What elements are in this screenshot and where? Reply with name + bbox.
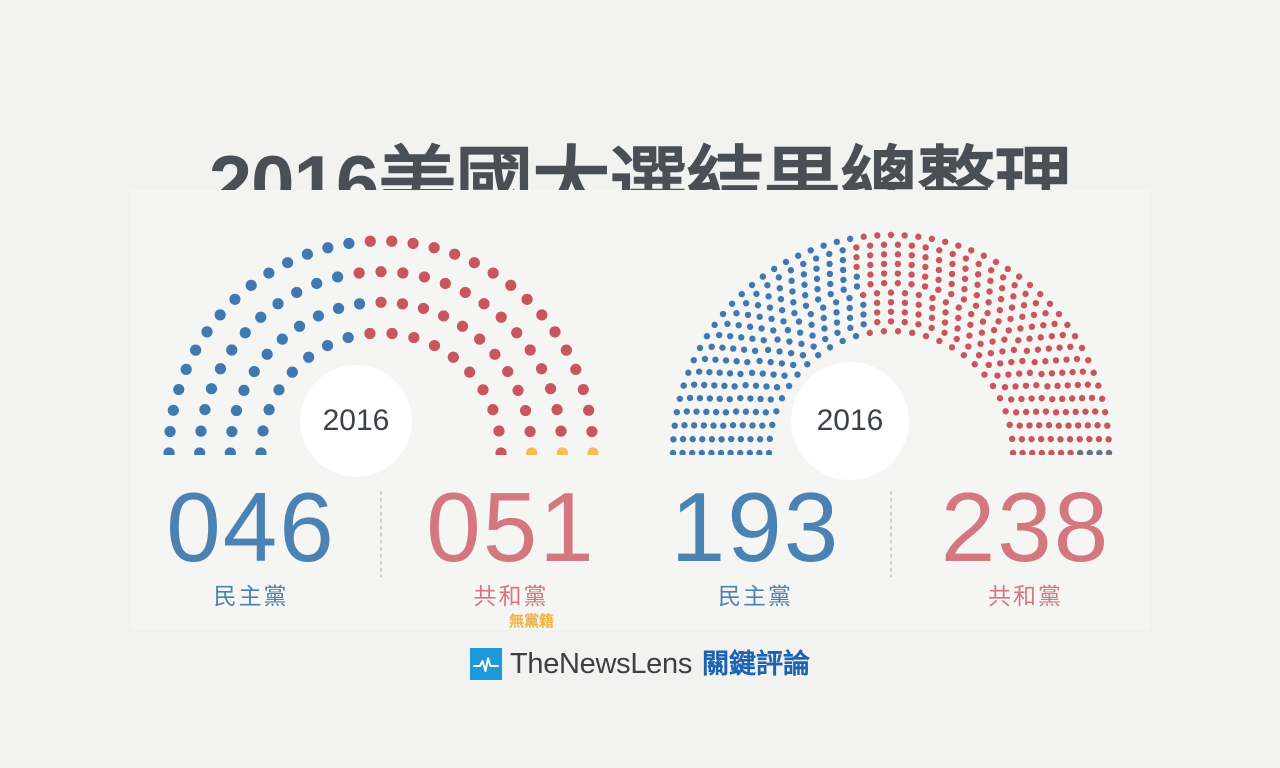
seat-dot — [935, 267, 941, 273]
seat-dot — [1008, 436, 1014, 442]
seat-dot — [199, 404, 210, 415]
seat-dot — [901, 232, 907, 238]
seat-dot — [536, 363, 547, 374]
seat-dot — [1012, 383, 1018, 389]
seat-dot — [1006, 422, 1012, 428]
seat-dot — [921, 273, 927, 279]
senate-democrat-result: 046 民主黨 — [136, 475, 366, 611]
seat-dot — [800, 261, 806, 267]
seat-dot — [992, 259, 998, 265]
seat-dot — [749, 336, 755, 342]
seat-dot — [795, 318, 801, 324]
house-democrat-result: 193 民主黨 — [636, 475, 875, 611]
seat-dot — [827, 291, 833, 297]
seat-dot — [1016, 370, 1022, 376]
seat-dot — [716, 396, 722, 402]
seat-dot — [1022, 383, 1028, 389]
seat-dot — [313, 310, 324, 321]
seat-dot — [821, 325, 827, 331]
seat-dot — [732, 408, 738, 414]
seat-dot — [488, 267, 499, 278]
seat-dot — [880, 270, 886, 276]
seat-dot — [1037, 291, 1043, 297]
seat-dot — [1015, 337, 1021, 343]
seat-dot — [1012, 409, 1018, 415]
seat-dot — [173, 384, 184, 395]
seat-dot — [449, 249, 460, 260]
seat-dot — [800, 271, 806, 277]
house-democrat-party-name: 民主黨 — [636, 581, 875, 611]
seat-dot — [1010, 293, 1016, 299]
seat-dot — [965, 343, 971, 349]
seat-dot — [1026, 336, 1032, 342]
seat-dot — [987, 267, 993, 273]
seat-dot — [1056, 344, 1062, 350]
seat-dot — [731, 383, 737, 389]
seat-dot — [935, 277, 941, 283]
seat-dot — [408, 332, 419, 343]
seat-dot — [708, 436, 714, 442]
seat-dot — [730, 345, 736, 351]
seat-dot — [769, 422, 775, 428]
seat-dot — [190, 345, 201, 356]
seat-dot — [979, 318, 985, 324]
seat-dot — [1059, 369, 1065, 375]
seat-dot — [1011, 282, 1017, 288]
seat-dot — [206, 383, 217, 394]
seat-dot — [1005, 327, 1011, 333]
seat-dot — [767, 359, 773, 365]
seat-dot — [322, 340, 333, 351]
seat-dot — [578, 384, 589, 395]
seat-dot — [798, 341, 804, 347]
house-republican-party-name: 共和黨 — [906, 581, 1145, 611]
seat-dot — [777, 296, 783, 302]
seat-dot — [343, 332, 354, 343]
seat-dot — [1032, 409, 1038, 415]
seat-dot — [343, 238, 354, 249]
seat-dot — [570, 364, 581, 375]
seat-dot — [1071, 333, 1077, 339]
seat-dot — [778, 307, 784, 313]
seat-dot — [737, 395, 743, 401]
seat-dot — [1026, 282, 1032, 288]
seat-dot — [1095, 436, 1101, 442]
seat-dot — [782, 259, 788, 265]
seat-dot — [834, 330, 840, 336]
seat-dot — [901, 319, 907, 325]
seat-dot — [742, 409, 748, 415]
seat-dot — [690, 422, 696, 428]
seat-dot — [754, 302, 760, 308]
seat-dot — [744, 359, 750, 365]
seat-dot — [693, 408, 699, 414]
seat-dot — [505, 280, 516, 291]
seat-dot — [545, 383, 556, 394]
seat-dot — [998, 285, 1004, 291]
seat-dot — [429, 340, 440, 351]
seat-dot — [827, 281, 833, 287]
seat-dot — [1069, 369, 1075, 375]
seat-dot — [1074, 382, 1080, 388]
seat-dot — [749, 422, 755, 428]
seat-dot — [873, 309, 879, 315]
seat-dot — [966, 332, 972, 338]
seat-dot — [894, 270, 900, 276]
seat-dot — [887, 289, 893, 295]
seat-dot — [799, 352, 805, 358]
seat-dot — [840, 287, 846, 293]
house-republican-result: 238 共和黨 — [906, 475, 1145, 611]
seat-dot — [873, 300, 879, 306]
seat-dot — [997, 296, 1003, 302]
seat-dot — [419, 271, 430, 282]
seat-dot — [708, 450, 714, 455]
seat-dot — [673, 409, 679, 415]
seat-dot — [586, 426, 597, 437]
seat-dot — [989, 338, 995, 344]
seat-dot — [408, 238, 419, 249]
seat-dot — [549, 326, 560, 337]
seat-dot — [1095, 382, 1101, 388]
seat-dot — [1037, 334, 1043, 340]
seat-dot — [766, 304, 772, 310]
seat-dot — [710, 422, 716, 428]
seat-dot — [215, 363, 226, 374]
seat-dot — [536, 309, 547, 320]
seat-dot — [1020, 302, 1026, 308]
infographic-canvas: 2016美國大選結果總整理 2016 無黨籍 046 民主黨 051 共和黨 — [0, 0, 1280, 768]
seat-dot — [721, 383, 727, 389]
seat-dot — [1052, 357, 1058, 363]
seat-dot — [833, 319, 839, 325]
seat-dot — [975, 261, 981, 267]
seat-dot — [765, 293, 771, 299]
seat-dot — [980, 253, 986, 259]
seat-dot — [1066, 436, 1072, 442]
seat-dot — [853, 264, 859, 270]
seat-dot — [949, 251, 955, 257]
seat-dot — [1098, 396, 1104, 402]
seat-dot — [770, 371, 776, 377]
seat-dot — [448, 352, 459, 363]
seat-dot — [846, 305, 852, 311]
seat-dot — [999, 348, 1005, 354]
seat-dot — [822, 336, 828, 342]
chart-card: 2016 無黨籍 046 民主黨 051 共和黨 2016 — [131, 190, 1150, 630]
seat-dot — [1036, 422, 1042, 428]
seat-dot — [765, 450, 771, 455]
seat-dot — [744, 312, 750, 318]
seat-dot — [867, 262, 873, 268]
seat-dot — [1030, 312, 1036, 318]
seat-dot — [711, 382, 717, 388]
seat-dot — [489, 349, 500, 360]
seat-dot — [942, 239, 948, 245]
seat-dot — [880, 280, 886, 286]
senate-chart-panel: 2016 無黨籍 046 民主黨 051 共和黨 — [131, 190, 631, 630]
seat-dot — [1038, 395, 1044, 401]
seat-dot — [1042, 310, 1048, 316]
seat-dot — [901, 290, 907, 296]
seat-dot — [814, 352, 820, 358]
seat-dot — [1045, 345, 1051, 351]
seat-dot — [720, 423, 726, 429]
seat-dot — [1078, 345, 1084, 351]
seat-dot — [915, 302, 921, 308]
seat-dot — [1029, 450, 1035, 455]
seat-dot — [1063, 356, 1069, 362]
seat-dot — [587, 447, 598, 455]
seat-dot — [908, 271, 914, 277]
seat-dot — [733, 310, 739, 316]
seat-dot — [804, 361, 810, 367]
seat-dot — [790, 299, 796, 305]
seat-dot — [866, 242, 872, 248]
seat-dot — [1001, 336, 1007, 342]
seat-dot — [955, 304, 961, 310]
seat-dot — [807, 311, 813, 317]
seat-dot — [996, 307, 1002, 313]
seat-dot — [1090, 370, 1096, 376]
seat-dot — [833, 239, 839, 245]
seat-dot — [262, 349, 273, 360]
seat-dot — [894, 251, 900, 257]
senate-republican-result: 051 共和黨 — [396, 475, 626, 611]
seat-dot — [739, 422, 745, 428]
seat-dot — [333, 303, 344, 314]
seat-dot — [708, 344, 714, 350]
seat-dot — [1076, 436, 1082, 442]
seat-dot — [995, 318, 1001, 324]
seat-dot — [163, 447, 174, 455]
seat-dot — [291, 287, 302, 298]
seat-dot — [1057, 450, 1063, 455]
seat-dot — [978, 329, 984, 335]
seat-dot — [760, 337, 766, 343]
seat-dot — [820, 315, 826, 321]
seat-dot — [762, 409, 768, 415]
seat-dot — [996, 395, 1002, 401]
seat-dot — [1038, 450, 1044, 455]
seat-dot — [690, 357, 696, 363]
seat-dot — [375, 297, 386, 308]
seat-dot — [685, 370, 691, 376]
seat-dot — [164, 426, 175, 437]
seat-dot — [712, 409, 718, 415]
seat-dot — [787, 267, 793, 273]
seat-dot — [756, 436, 762, 442]
seat-dot — [1067, 344, 1073, 350]
seat-dot — [737, 450, 743, 455]
seat-dot — [774, 336, 780, 342]
seat-dot — [1037, 436, 1043, 442]
seat-dot — [477, 384, 488, 395]
seat-dot — [941, 330, 947, 336]
seat-dot — [860, 321, 866, 327]
seat-dot — [941, 319, 947, 325]
seat-dot — [752, 383, 758, 389]
seat-dot — [464, 367, 475, 378]
seat-dot — [719, 311, 725, 317]
seat-dot — [880, 261, 886, 267]
seat-dot — [1016, 422, 1022, 428]
seat-dot — [756, 358, 762, 364]
seat-dot — [846, 295, 852, 301]
seat-dot — [1092, 408, 1098, 414]
seat-dot — [302, 249, 313, 260]
seat-dot — [826, 261, 832, 267]
seat-dot — [249, 366, 260, 377]
pulse-icon — [470, 648, 502, 680]
seat-dot — [478, 298, 489, 309]
seat-dot — [689, 436, 695, 442]
seat-dot — [229, 294, 240, 305]
seat-dot — [987, 278, 993, 284]
seat-dot — [1046, 301, 1052, 307]
seat-dot — [894, 242, 900, 248]
seat-dot — [1085, 357, 1091, 363]
seat-dot — [1079, 368, 1085, 374]
seat-dot — [948, 344, 954, 350]
seat-dot — [386, 328, 397, 339]
seat-dot — [748, 282, 754, 288]
seat-dot — [814, 286, 820, 292]
seat-dot — [1052, 409, 1058, 415]
seat-dot — [272, 298, 283, 309]
seat-dot — [689, 450, 695, 455]
seat-dot — [928, 315, 934, 321]
seat-dot — [1073, 356, 1079, 362]
seat-dot — [671, 422, 677, 428]
seat-dot — [1022, 291, 1028, 297]
seat-dot — [438, 310, 449, 321]
seat-dot — [867, 271, 873, 277]
seat-dot — [679, 436, 685, 442]
house-democrat-seats: 193 — [636, 475, 875, 579]
seat-dot — [747, 395, 753, 401]
seat-dot — [1101, 409, 1107, 415]
seat-dot — [1048, 450, 1054, 455]
seat-dot — [496, 312, 507, 323]
seat-dot — [1026, 370, 1032, 376]
seat-dot — [776, 285, 782, 291]
seat-dot — [962, 255, 968, 261]
seat-dot — [487, 404, 498, 415]
seat-dot — [1067, 450, 1073, 455]
seat-dot — [669, 450, 675, 455]
seat-dot — [812, 255, 818, 261]
seat-dot — [700, 382, 706, 388]
seat-dot — [676, 396, 682, 402]
seat-dot — [763, 383, 769, 389]
seat-dot — [752, 409, 758, 415]
seat-dot — [942, 299, 948, 305]
seat-dot — [756, 314, 762, 320]
brand-name-en: TheNewsLens — [510, 648, 692, 680]
seat-dot — [770, 266, 776, 272]
seat-dot — [1064, 322, 1070, 328]
seat-dot — [908, 262, 914, 268]
seat-dot — [1105, 450, 1111, 455]
seat-dot — [887, 232, 893, 238]
seat-dot — [955, 315, 961, 321]
seat-dot — [887, 318, 893, 324]
seat-dot — [791, 310, 797, 316]
seat-dot — [974, 271, 980, 277]
seat-dot — [718, 436, 724, 442]
senate-democrat-seats: 046 — [136, 475, 366, 579]
seat-dot — [759, 422, 765, 428]
seat-dot — [874, 319, 880, 325]
seat-dot — [853, 254, 859, 260]
seat-dot — [764, 347, 770, 353]
seat-dot — [512, 385, 523, 396]
seat-dot — [961, 276, 967, 282]
seat-dot — [985, 362, 991, 368]
seat-dot — [960, 352, 966, 358]
senate-results: 046 民主黨 051 共和黨 — [131, 475, 631, 625]
seat-dot — [813, 276, 819, 282]
seat-dot — [703, 333, 709, 339]
seat-dot — [796, 329, 802, 335]
seat-dot — [1049, 396, 1055, 402]
seat-dot — [397, 298, 408, 309]
seat-dot — [728, 301, 734, 307]
seat-dot — [948, 271, 954, 277]
seat-dot — [826, 271, 832, 277]
seat-dot — [1009, 450, 1015, 455]
seat-dot — [726, 333, 732, 339]
senate-year-badge: 2016 — [300, 365, 412, 477]
seat-dot — [690, 381, 696, 387]
seat-dot — [853, 273, 859, 279]
seat-dot — [833, 309, 839, 315]
seat-dot — [977, 341, 983, 347]
seat-dot — [847, 325, 853, 331]
seat-dot — [839, 338, 845, 344]
seat-dot — [429, 242, 440, 253]
seat-dot — [728, 436, 734, 442]
seat-dot — [759, 370, 765, 376]
seat-dot — [716, 369, 722, 375]
seat-dot — [973, 292, 979, 298]
seat-dot — [1038, 371, 1044, 377]
seat-dot — [703, 409, 709, 415]
seat-dot — [814, 296, 820, 302]
seat-dot — [525, 426, 536, 437]
seat-dot — [231, 405, 242, 416]
seat-dot — [277, 334, 288, 345]
seat-dot — [525, 344, 536, 355]
seat-dot — [773, 384, 779, 390]
senate-democrat-party-name: 民主黨 — [136, 581, 366, 611]
seat-dot — [418, 303, 429, 314]
seat-dot — [1032, 300, 1038, 306]
seat-dot — [915, 311, 921, 317]
seat-dot — [561, 345, 572, 356]
seat-dot — [511, 327, 522, 338]
seat-dot — [712, 356, 718, 362]
seat-dot — [880, 242, 886, 248]
seat-dot — [273, 384, 284, 395]
seat-dot — [794, 371, 800, 377]
seat-dot — [810, 343, 816, 349]
seat-dot — [311, 278, 322, 289]
seat-dot — [727, 450, 733, 455]
seat-dot — [766, 436, 772, 442]
seat-dot — [809, 332, 815, 338]
